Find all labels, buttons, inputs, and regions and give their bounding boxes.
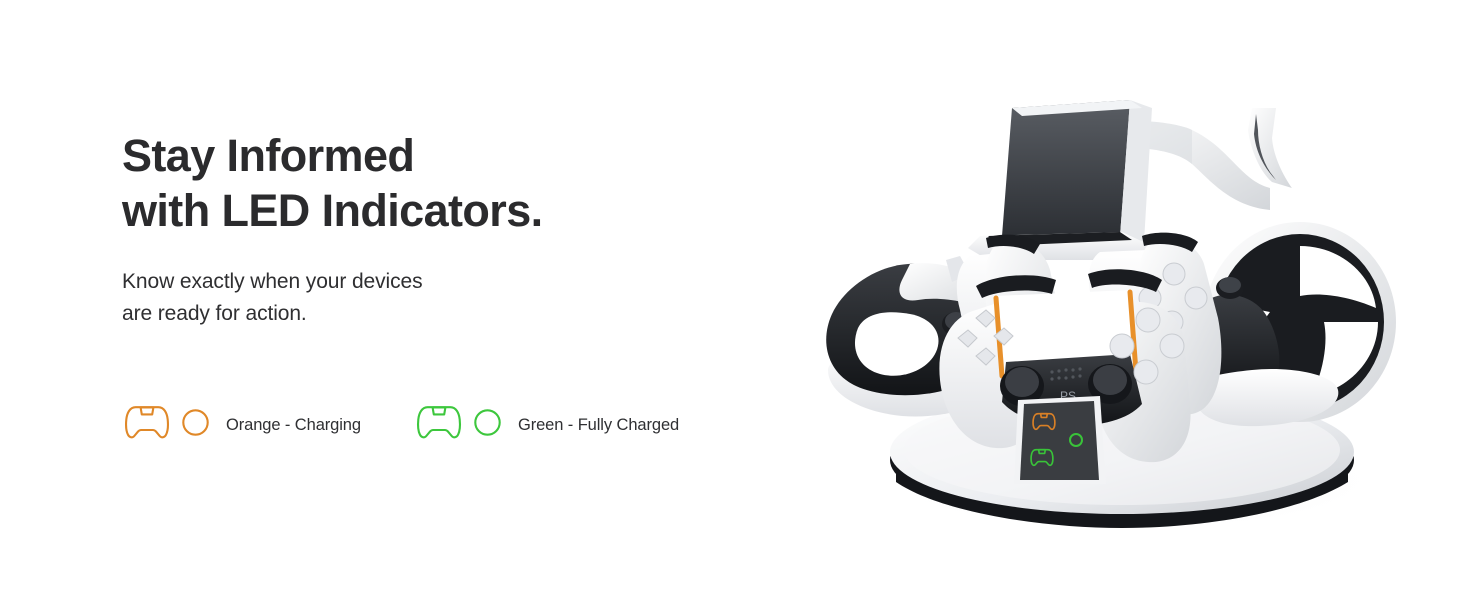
legend-item-orange: Orange - Charging: [124, 404, 361, 446]
page-subtitle: Know exactly when your devices are ready…: [122, 238, 762, 330]
gamepad-outline-icon: [124, 404, 170, 446]
circle-outline-icon: [182, 409, 209, 441]
vr-controller-right: [1195, 222, 1396, 426]
text-column: Stay Informed with LED Indicators. Know …: [122, 128, 762, 330]
led-indicator-banner: Stay Informed with LED Indicators. Know …: [0, 0, 1464, 600]
legend-label-green: Green - Fully Charged: [518, 416, 679, 435]
legend-icons-orange: [124, 404, 209, 446]
legend-icons-green: [416, 404, 501, 446]
product-image: PS: [800, 60, 1420, 560]
legend-item-green: Green - Fully Charged: [416, 404, 679, 446]
led-legend: Orange - Charging Green - Fully Charged: [124, 404, 679, 446]
led-indicator-panel: [1014, 396, 1106, 484]
page-title: Stay Informed with LED Indicators.: [122, 128, 762, 238]
gamepad-outline-icon: [416, 404, 462, 446]
circle-outline-icon: [474, 409, 501, 441]
legend-label-orange: Orange - Charging: [226, 416, 361, 435]
